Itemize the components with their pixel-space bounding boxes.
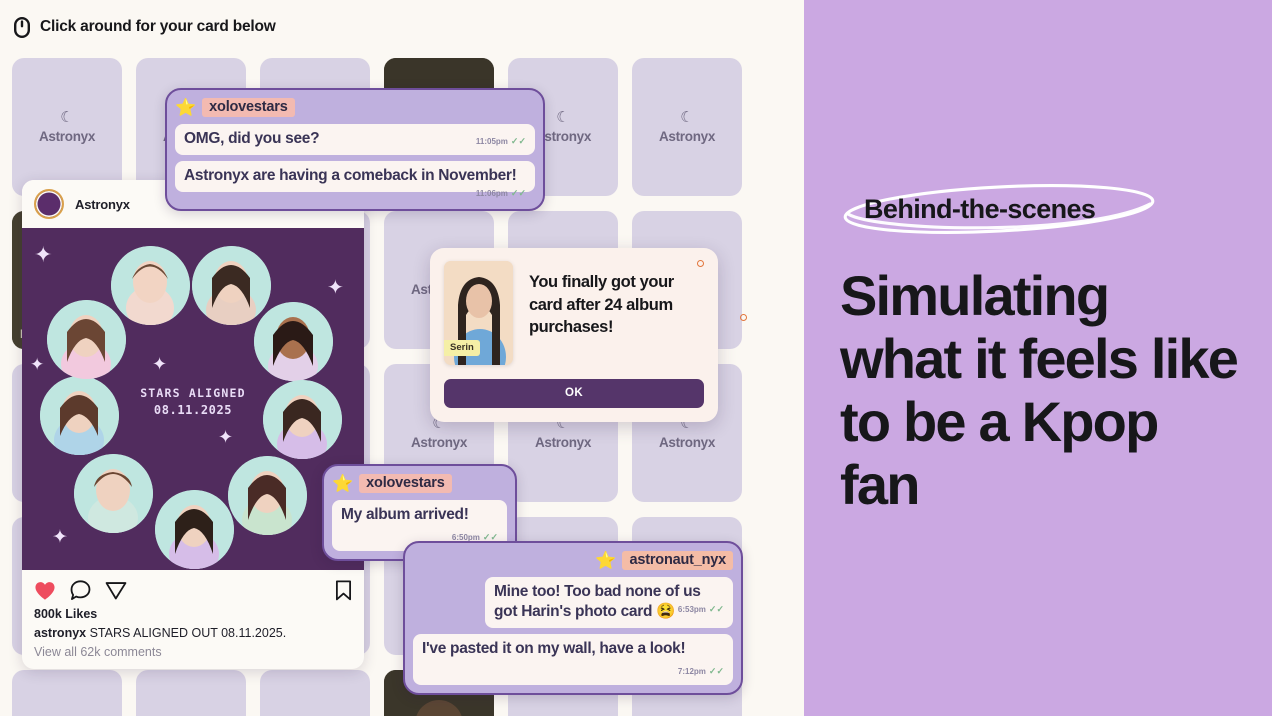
chat-timestamp: 6:53pm [678,605,706,614]
sparkle-icon: ✦ [327,278,344,298]
star-icon: ⭐ [595,552,616,569]
chat-timestamp: 7:12pm [678,667,706,676]
sparkle-icon: ✦ [52,528,68,547]
grid-card[interactable]: ☾ Astronyx [136,670,246,716]
album-title: STARS ALIGNED [22,386,364,400]
modal-message: You finally got your card after 24 album… [529,261,704,339]
chat-message-text: Mine too! Too bad none of us got Harin's… [494,583,701,620]
crescent-moon-star-icon: ☾ [60,110,73,125]
chat-message: Astronyx are having a comeback in Novemb… [175,161,535,192]
crescent-moon-star-icon: ☾ [680,110,693,125]
chat-message-meta: 7:12pm ✓✓ [678,666,724,679]
photo-card: Serin [444,261,513,365]
crescent-moon-star-icon: ☾ [556,110,569,125]
app-stage: Behind-the-scenes Simulating what it fee… [0,0,1272,716]
kicker-block: Behind-the-scenes [838,180,1178,242]
chat-message-text: OMG, did you see? [184,129,319,149]
instagram-post-card[interactable]: Astronyx ✦ ✦ ✦ ✦ ✦ ✦ [22,180,364,669]
member-portrait [155,490,234,569]
member-portrait [47,300,126,379]
read-receipt-icon: ✓✓ [511,188,526,199]
chat-username: xolovestars [202,98,294,117]
chat-timestamp: 11:05pm [476,137,508,146]
bookmark-icon[interactable] [335,580,352,601]
chat-message-text: Astronyx are having a comeback in Novemb… [184,167,517,184]
grid-card[interactable]: ☾ Astronyx [12,670,122,716]
chat-header: ⭐ astronaut_nyx [413,551,733,570]
member-portrait [228,456,307,535]
chat-message: I've pasted it on my wall, have a look! … [413,634,733,685]
member-portrait [111,246,190,325]
chat-message-meta: 11:05pm ✓✓ [476,136,526,149]
comment-icon[interactable] [70,580,91,601]
member-portrait [192,246,271,325]
kicker-text: Behind-the-scenes [864,194,1095,225]
instagram-action-bar [22,570,364,605]
member-portrait [74,454,153,533]
sparkle-icon: ✦ [218,428,233,446]
grid-card-label: Astronyx [535,435,591,450]
instagram-username: Astronyx [75,197,130,212]
photo-card-name: Serin [444,340,480,356]
chat-username: astronaut_nyx [622,551,733,570]
star-icon: ⭐ [175,99,196,116]
modal-ok-button[interactable]: OK [444,379,704,408]
heart-icon[interactable] [34,581,56,601]
star-icon: ⭐ [332,475,353,492]
chat-message-text: I've pasted it on my wall, have a look! [422,639,685,659]
grid-card[interactable]: ☾ Astronyx [260,670,370,716]
header-bar: Click around for your card below [0,0,804,54]
chat-message-meta: 11:06pm ✓✓ [476,188,526,201]
sparkle-icon: ✦ [30,356,44,373]
read-receipt-icon: ✓✓ [511,136,526,147]
chat-message-text: My album arrived! [341,505,469,525]
share-icon[interactable] [105,580,127,601]
modal-body: Serin You finally got your card after 24… [444,261,704,365]
chat-timestamp: 11:06pm [476,189,508,198]
grid-card[interactable]: ☾ Astronyx [632,58,742,196]
sparkle-icon: ✦ [152,355,167,373]
chat-header: ⭐ xolovestars [332,474,507,493]
reward-modal-dialog[interactable]: Serin You finally got your card after 24… [430,248,718,422]
instagram-caption-text: STARS ALIGNED OUT 08.11.2025. [90,626,287,640]
header-instruction-text: Click around for your card below [40,18,276,36]
mouse-icon [14,17,30,38]
read-receipt-icon: ✓✓ [709,604,724,615]
grid-card-label: Astronyx [411,435,467,450]
chat-header: ⭐ xolovestars [175,98,535,117]
sparkle-icon: ✦ [34,244,52,266]
instagram-caption-username: astronyx [34,626,86,640]
orange-dot-decoration [697,260,704,267]
instagram-view-comments-link[interactable]: View all 62k comments [22,640,364,669]
grid-card[interactable]: ☾ Astronyx [12,58,122,196]
grid-card-label: Astronyx [659,129,715,144]
grid-card-label: Astronyx [659,435,715,450]
chat-bubble-bottom[interactable]: ⭐ astronaut_nyx Mine too! Too bad none o… [403,541,743,695]
album-artwork: ✦ ✦ ✦ ✦ ✦ ✦ [22,228,364,570]
chat-message-meta: 6:53pm ✓✓ [678,604,724,617]
member-portrait [254,302,333,381]
page-headline: Simulating what it feels like to be a Kp… [840,264,1240,516]
avatar[interactable] [34,189,64,219]
chat-bubble-top[interactable]: ⭐ xolovestars OMG, did you see? 11:05pm … [165,88,545,211]
album-release-date: 08.11.2025 [22,403,364,417]
chat-username: xolovestars [359,474,451,493]
chat-message: Mine too! Too bad none of us got Harin's… [485,577,733,628]
read-receipt-icon: ✓✓ [709,666,724,677]
instagram-like-count: 800k Likes [22,605,364,621]
chat-message: OMG, did you see? 11:05pm ✓✓ [175,124,535,155]
grid-card-label: Astronyx [39,129,95,144]
orange-dot-decoration [740,314,747,321]
right-lavender-panel: Behind-the-scenes Simulating what it fee… [804,0,1272,716]
instagram-caption: astronyx STARS ALIGNED OUT 08.11.2025. [22,621,364,640]
